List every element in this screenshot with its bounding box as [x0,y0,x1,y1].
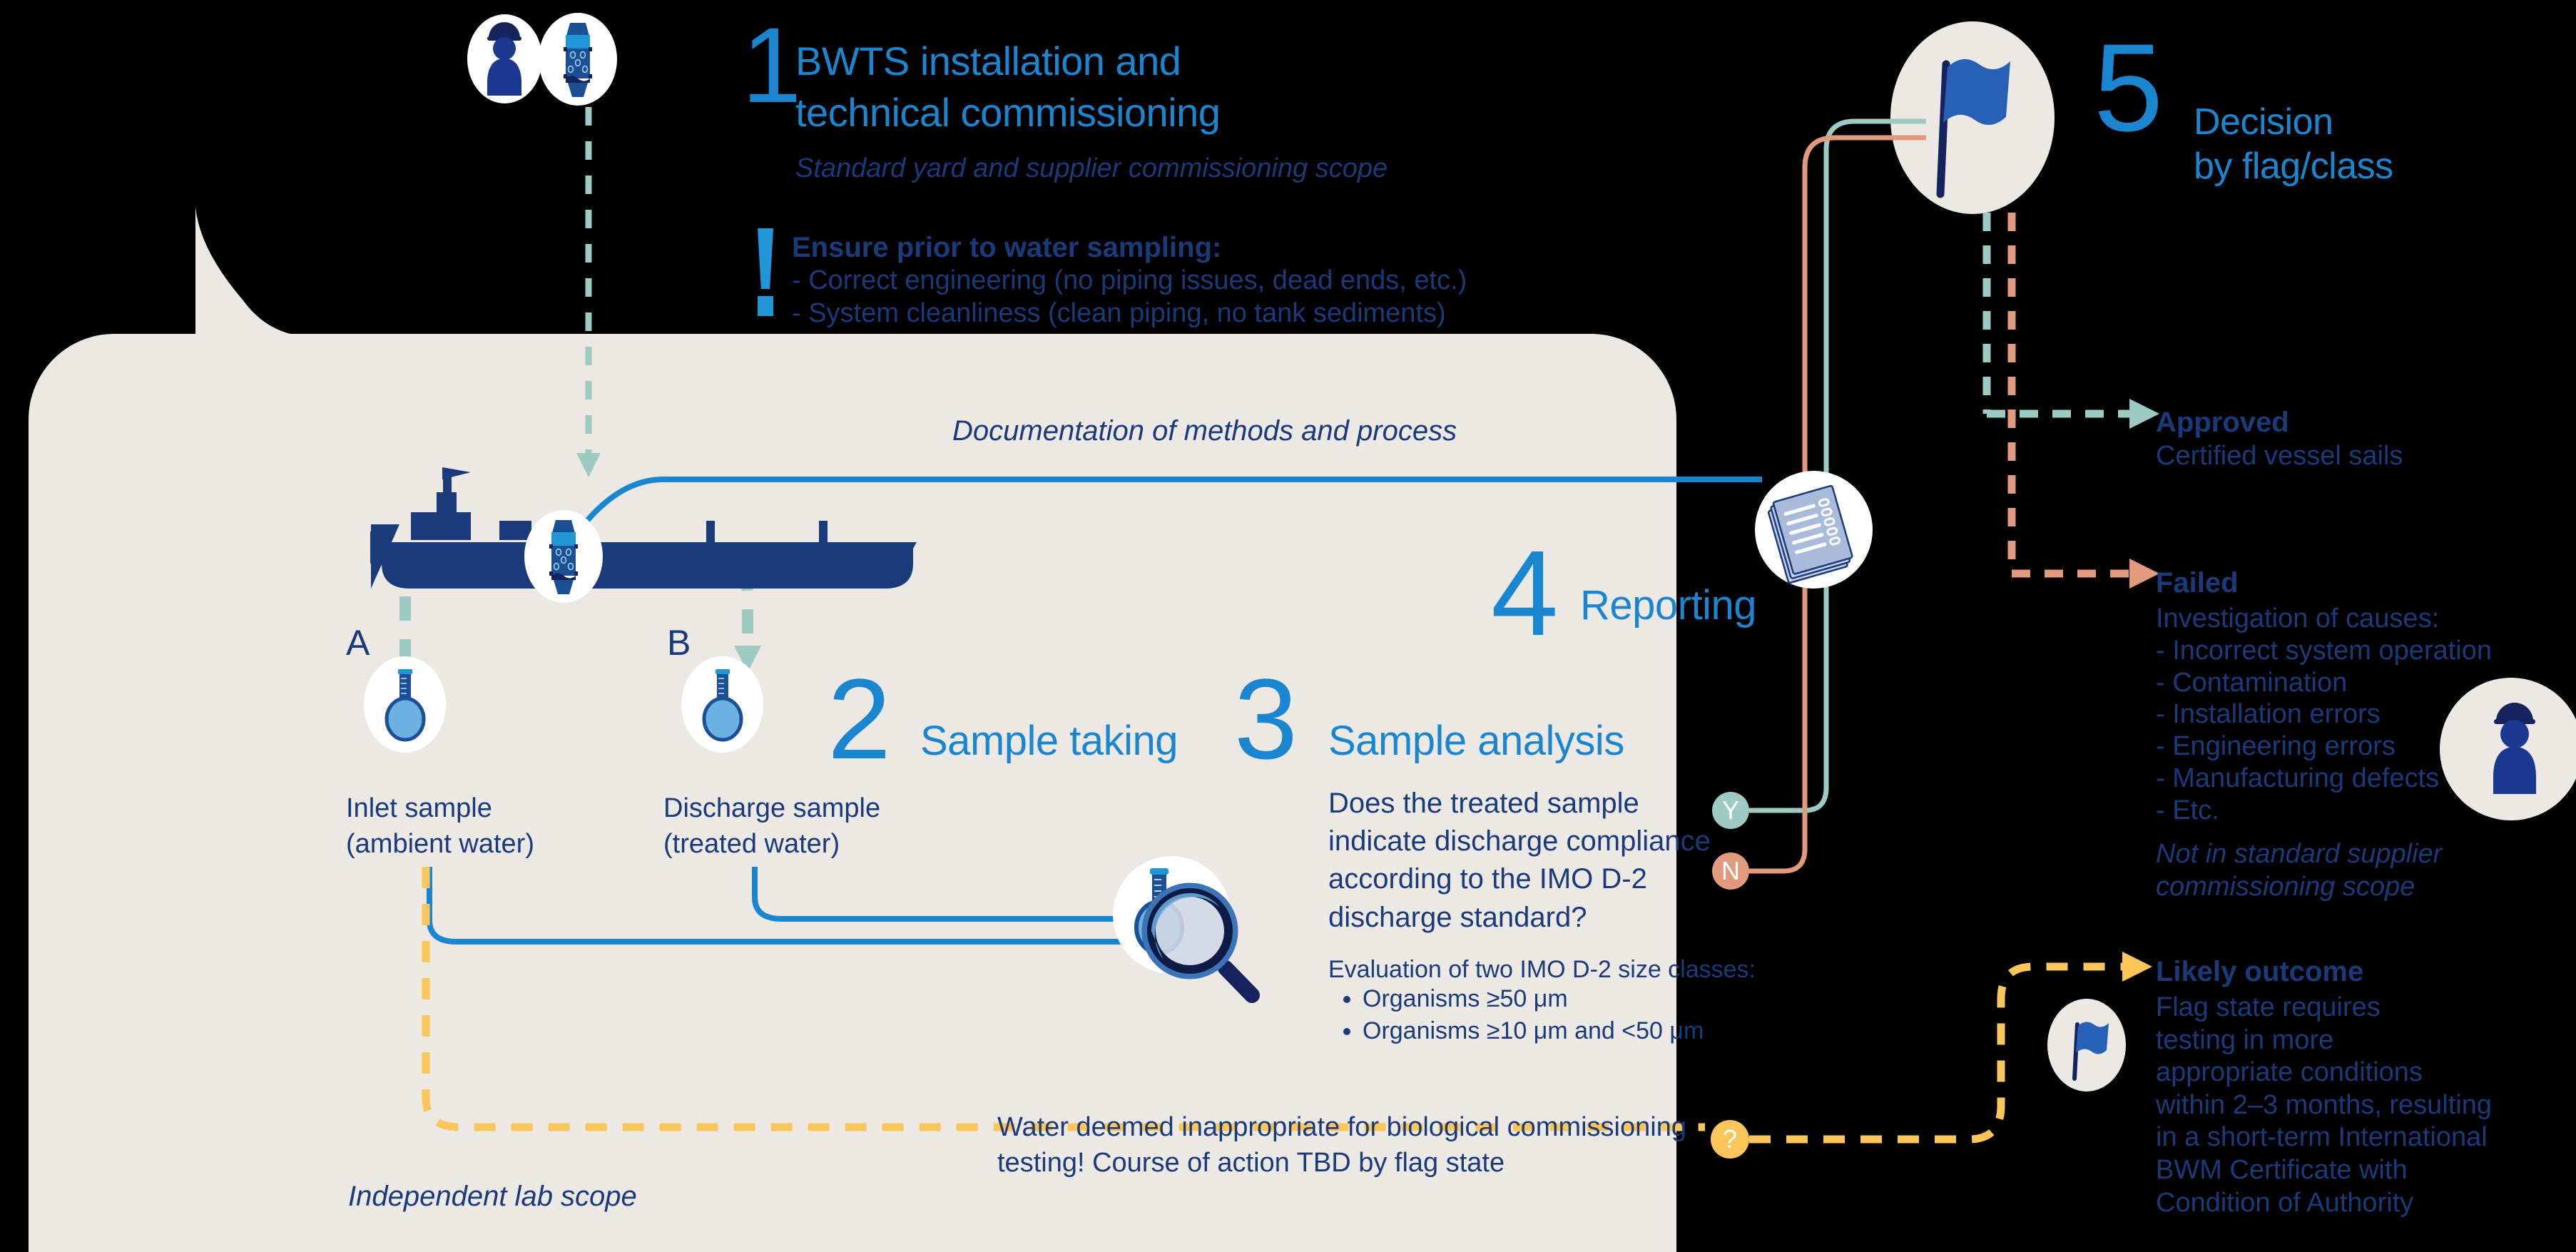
step-1-subtitle: Standard yard and supplier commissioning… [795,153,1388,184]
yes-badge[interactable]: Y [1712,792,1749,829]
independent-lab-scope-note: Independent lab scope [348,1181,637,1213]
report-notebook-icon-circle [1755,471,1873,589]
bwts-filter-ship-icon-circle [524,510,603,603]
step-2-number: 2 [828,671,890,768]
step-4-number: 4 [1491,542,1557,646]
report-notebook-icon [1755,471,1873,589]
failed-body: Investigation of causes: - Incorrect sys… [2156,603,2492,827]
sample-b-letter: B [667,622,691,663]
sample-a-caption-line1: Inlet sample [346,790,534,826]
sample-a-letter: A [346,622,370,663]
bwts-filter-icon [524,510,603,603]
step-3-title: Sample analysis [1328,717,1624,765]
exclamation-dot-icon [758,296,773,316]
ensure-heading: Ensure prior to water sampling: [792,232,1221,264]
likely-outcome-body: Flag state requires testing in more appr… [2156,992,2492,1219]
worker-helmet-icon-circle [467,14,542,103]
step-5-title-line1: Decision [2194,100,2393,144]
failed-heading: Failed [2156,567,2239,599]
approved-heading: Approved [2156,407,2289,439]
sample-a-caption: Inlet sample (ambient water) [346,790,534,862]
step-1-title-line1: BWTS installation and [795,36,1437,87]
worker-helmet-icon [467,14,542,103]
likely-outcome-heading: Likely outcome [2156,956,2363,988]
step-5-title-line2: by flag/class [2194,144,2393,188]
step-3-eval-list: Organisms ≥50 μm Organisms ≥10 μm and <5… [1328,984,1704,1049]
sample-b-caption-line1: Discharge sample [663,790,880,826]
step-1-title: BWTS installation and technical commissi… [795,36,1437,138]
cargo-ship-icon [370,467,917,589]
step-3-eval-header: Evaluation of two IMO D-2 size classes: [1328,956,1756,984]
magnifier-icon-circle [1113,856,1231,974]
magnifier-flask-icon [1106,853,1270,1017]
water-inappropriate-note: Water deemed inappropriate for biologica… [997,1109,1704,1181]
failed-scope-note: Not in standard supplier commissioning s… [2156,838,2442,903]
step-5-title: Decision by flag/class [2194,100,2393,189]
step-1-title-line2: technical commissioning [795,87,1437,138]
documentation-note: Documentation of methods and process [952,415,1457,447]
sample-b-caption: Discharge sample (treated water) [663,790,880,862]
infographic-canvas: 1 BWTS installation and technical commis… [0,0,2576,1252]
sample-flask-icon [364,656,446,753]
ensure-line-1: - Correct engineering (no piping issues,… [792,265,1467,296]
sample-flask-b-circle [681,656,763,753]
sample-flask-a-circle [364,656,446,753]
approved-body: Certified vessel sails [2156,441,2403,472]
flag-icon [2060,1013,2117,1084]
flag-icon [1912,43,2040,207]
list-item: Organisms ≥50 μm [1363,984,1704,1014]
bwts-filter-icon [539,13,617,106]
step-3-number: 3 [1234,671,1296,768]
step-3-question: Does the treated sample indicate dischar… [1328,785,1714,937]
list-item: Organisms ≥10 μm and <50 μm [1363,1017,1704,1046]
sample-a-caption-line2: (ambient water) [346,826,534,862]
sample-b-caption-line2: (treated water) [663,826,880,862]
sample-flask-icon [681,656,763,753]
ensure-line-2: - System cleanliness (clean piping, no t… [792,298,1446,329]
no-badge[interactable]: N [1712,853,1749,890]
step-2-title: Sample taking [920,717,1178,765]
step-1-number: 1 [742,20,800,111]
question-badge[interactable]: ? [1711,1120,1749,1159]
step-4-title: Reporting [1580,581,1756,629]
step-5-number: 5 [2094,36,2162,142]
bwts-filter-icon-circle [539,13,617,106]
